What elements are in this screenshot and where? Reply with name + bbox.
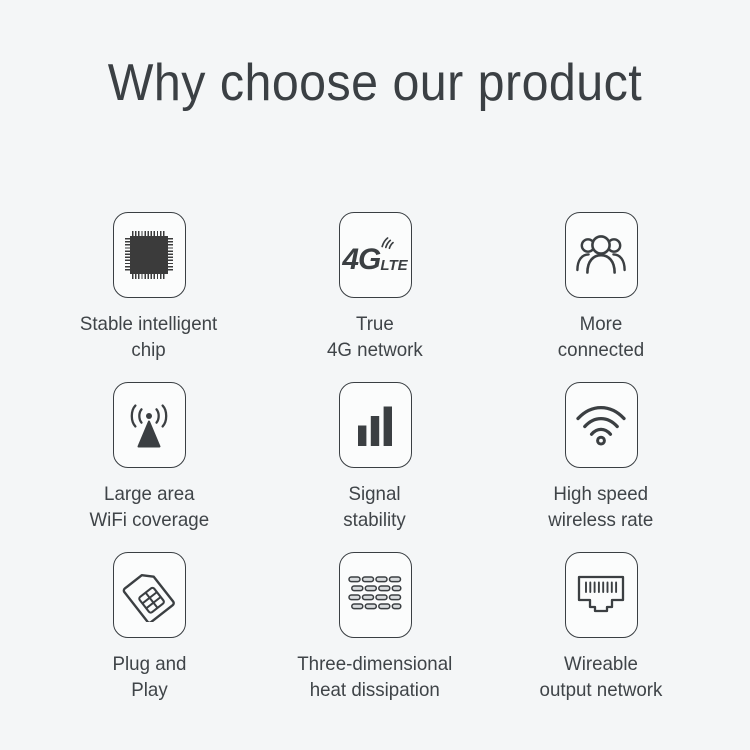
icon-tile <box>339 552 412 638</box>
chip-pins-bottom <box>132 274 166 279</box>
sim-card-icon <box>122 568 176 622</box>
feature-label: Large area WiFi coverage <box>89 481 209 533</box>
feature-label: High speed wireless rate <box>548 481 653 533</box>
feature-item-high-speed-wireless-rate: High speed wireless rate <box>488 382 714 552</box>
feature-grid: Stable intelligent chip 4G LTE True 4G n… <box>36 212 714 722</box>
people-group-icon <box>575 232 627 278</box>
chip-body <box>130 236 168 274</box>
heat-vent-grid-icon <box>347 575 403 615</box>
4g-text: 4G <box>342 245 380 275</box>
feature-item-large-area-wifi-coverage: Large area WiFi coverage <box>36 382 262 552</box>
feature-item-plug-and-play: Plug and Play <box>36 552 262 722</box>
feature-label: Stable intelligent chip <box>80 311 217 363</box>
feature-label: More connected <box>558 311 644 363</box>
feature-item-stable-intelligent-chip: Stable intelligent chip <box>36 212 262 382</box>
icon-tile <box>565 552 638 638</box>
icon-tile <box>113 212 186 298</box>
icon-tile <box>339 382 412 468</box>
signal-arcs-icon <box>379 234 397 250</box>
icon-tile <box>113 382 186 468</box>
4g-lte-icon: 4G LTE <box>346 235 404 275</box>
icon-tile <box>113 552 186 638</box>
signal-bars-icon <box>353 402 397 448</box>
ethernet-port-icon <box>576 574 626 616</box>
icon-tile: 4G LTE <box>339 212 412 298</box>
feature-item-more-connected: More connected <box>488 212 714 382</box>
broadcast-tower-icon <box>123 401 175 449</box>
feature-item-heat-dissipation: Three-dimensional heat dissipation <box>262 552 488 722</box>
feature-item-wireable-output-network: Wireable output network <box>488 552 714 722</box>
feature-label: True 4G network <box>327 311 423 363</box>
feature-label: Signal stability <box>344 481 406 533</box>
feature-label: Wireable output network <box>540 651 663 703</box>
chip-pins-right <box>168 238 173 272</box>
page-title: Why choose our product <box>26 52 724 114</box>
feature-item-signal-stability: Signal stability <box>262 382 488 552</box>
icon-tile <box>565 382 638 468</box>
lte-text: LTE <box>380 257 407 274</box>
product-features-page: Why choose our product Stable intelligen… <box>0 0 750 750</box>
feature-item-true-4g-network: 4G LTE True 4G network <box>262 212 488 382</box>
chip-icon <box>125 231 173 279</box>
icon-tile <box>565 212 638 298</box>
feature-label: Plug and Play <box>112 651 186 703</box>
feature-label: Three-dimensional heat dissipation <box>297 651 452 703</box>
wifi-icon <box>574 404 628 446</box>
